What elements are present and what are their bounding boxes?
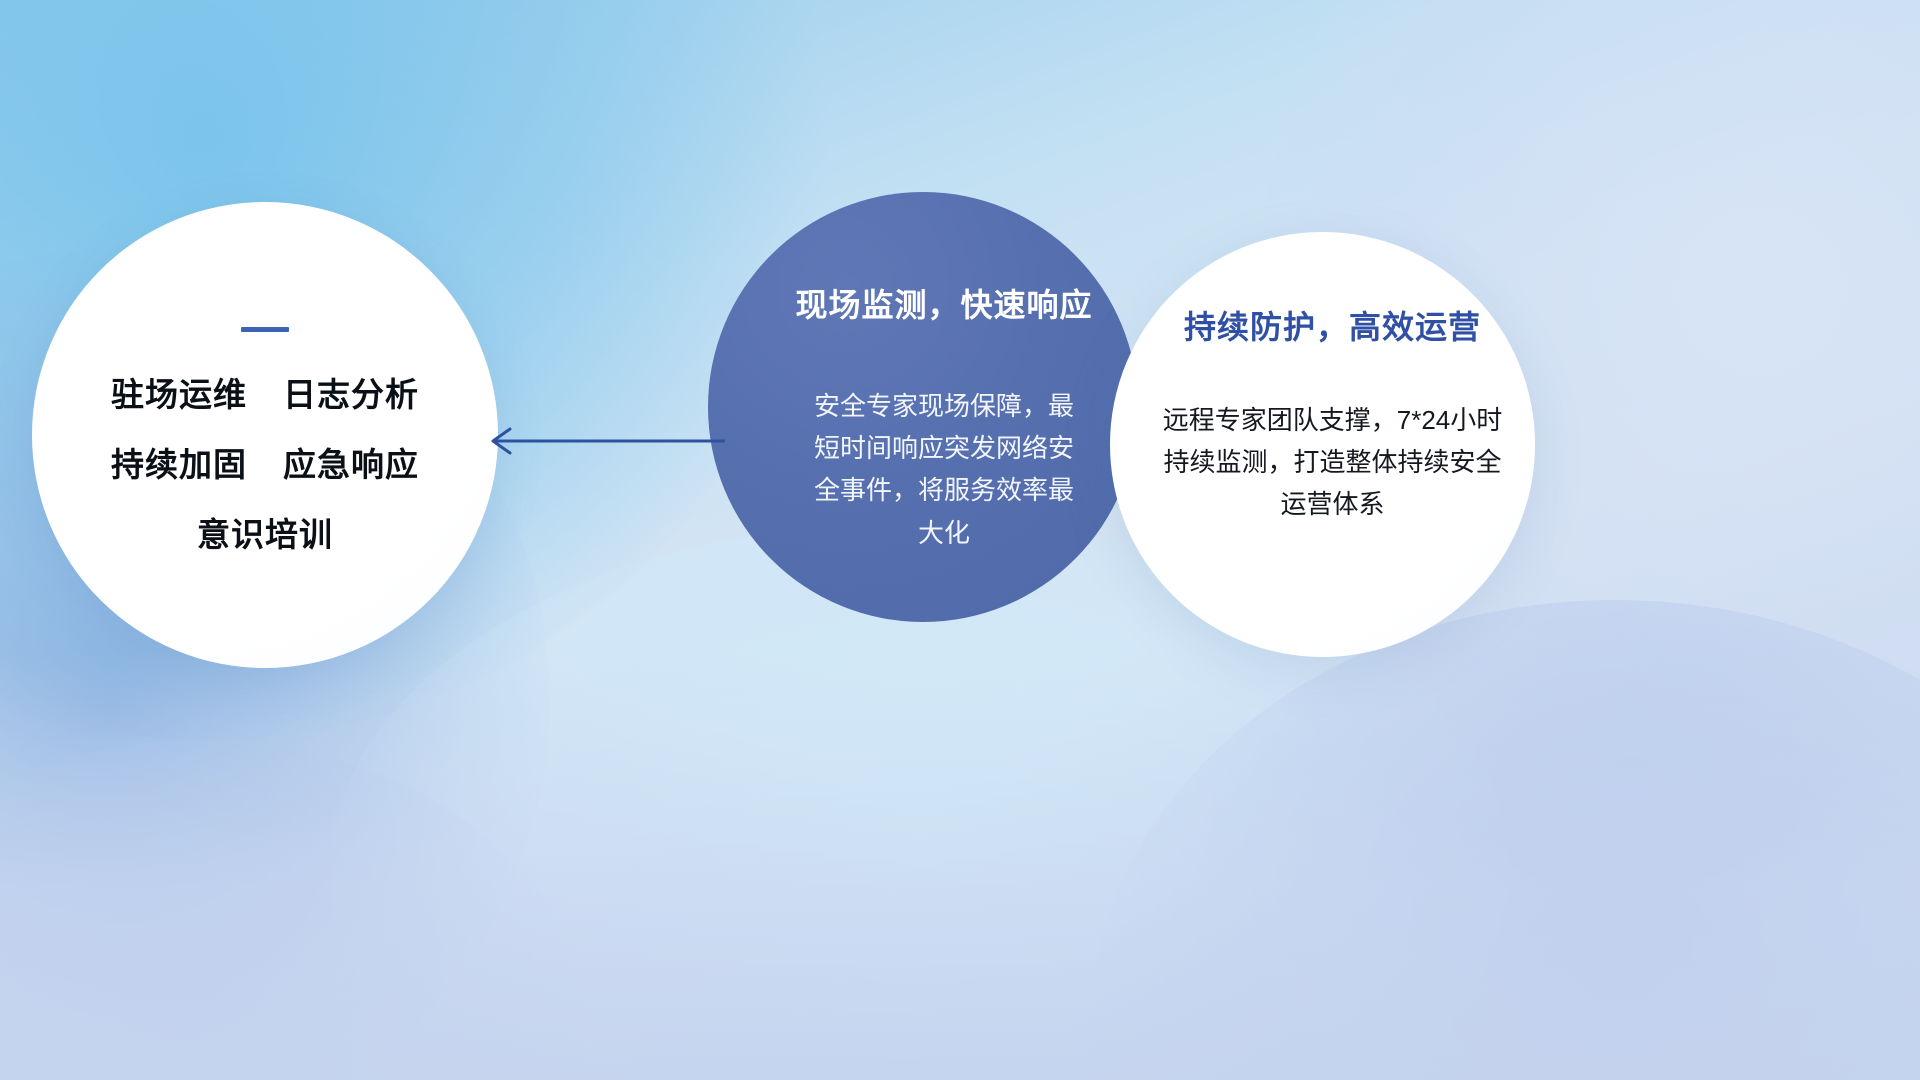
keyword-row: 意识培训 [197, 518, 333, 551]
capability-circle-right-content: 持续防护，高效运营 远程专家团队支撑，7*24小时持续监测，打造整体持续安全运营… [1110, 232, 1535, 657]
diagram-stage: 驻场运维 日志分析 持续加固 应急响应 意识培训 现场监测，快速响应 安全专家现… [0, 0, 1920, 1080]
capability-circle-left-content: 驻场运维 日志分析 持续加固 应急响应 意识培训 [32, 202, 498, 668]
keyword-item: 日志分析 [283, 378, 419, 411]
circle-right-description: 远程专家团队支撑，7*24小时持续监测，打造整体持续安全运营体系 [1153, 399, 1513, 525]
circle-right-title: 持续防护，高效运营 [1184, 310, 1481, 345]
divider-dash [241, 327, 289, 332]
keyword-item: 应急响应 [283, 448, 419, 481]
arrow-left-icon [470, 412, 730, 470]
keyword-row: 持续加固 应急响应 [111, 448, 419, 481]
keyword-item: 驻场运维 [111, 378, 247, 411]
capability-circle-middle-content: 现场监测，快速响应 安全专家现场保障，最短时间响应突发网络安全事件，将服务效率最… [708, 192, 1138, 622]
keyword-item: 意识培训 [197, 518, 333, 551]
keyword-row: 驻场运维 日志分析 [111, 378, 419, 411]
keyword-list: 驻场运维 日志分析 持续加固 应急响应 意识培训 [111, 378, 419, 551]
keyword-item: 持续加固 [111, 448, 247, 481]
circle-middle-title: 现场监测，快速响应 [795, 288, 1092, 323]
capability-circle-middle: 现场监测，快速响应 安全专家现场保障，最短时间响应突发网络安全事件，将服务效率最… [708, 192, 1138, 622]
circle-middle-description: 安全专家现场保障，最短时间响应突发网络安全事件，将服务效率最大化 [806, 385, 1082, 553]
capability-circle-right: 持续防护，高效运营 远程专家团队支撑，7*24小时持续监测，打造整体持续安全运营… [1110, 232, 1535, 657]
capability-circle-left: 驻场运维 日志分析 持续加固 应急响应 意识培训 [32, 202, 498, 668]
